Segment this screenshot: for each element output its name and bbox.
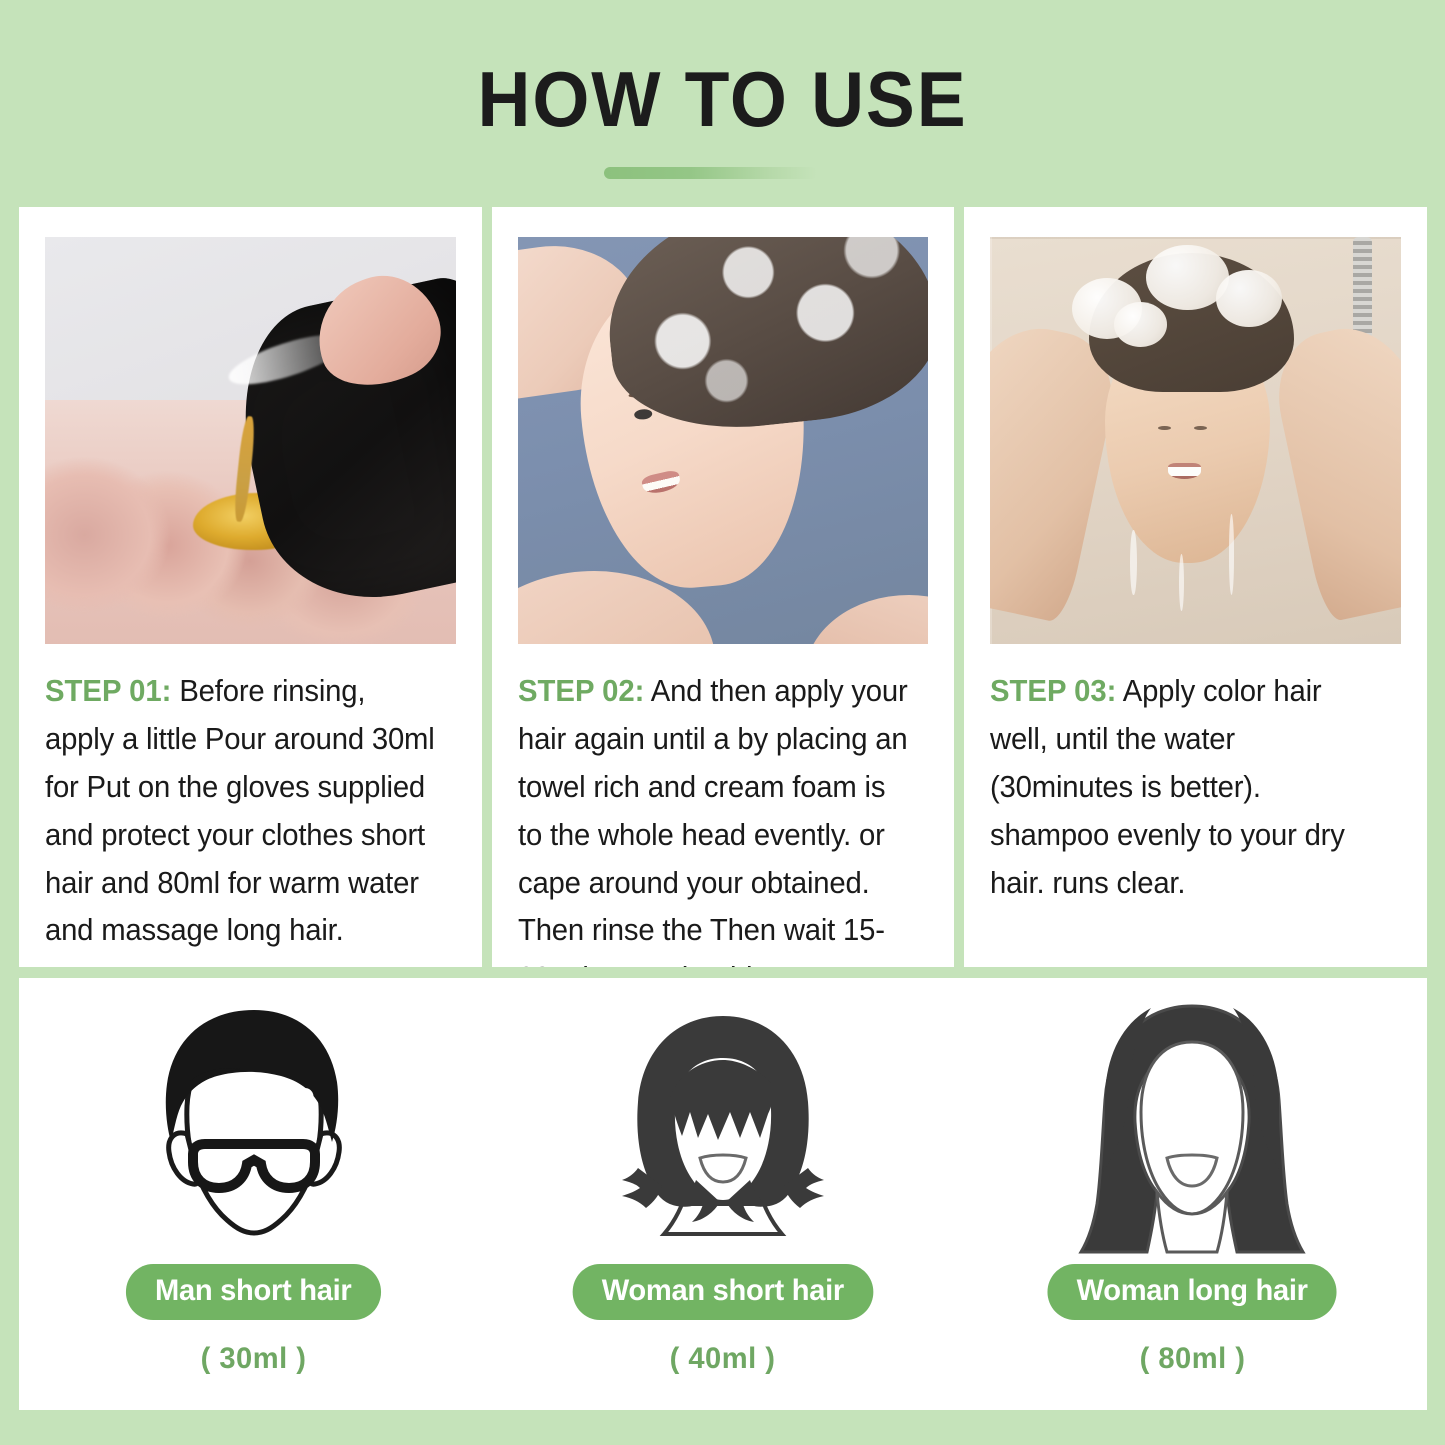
foam-blob <box>1216 270 1282 327</box>
hair-option-woman-short[interactable]: Woman short hair ( 40ml ) <box>488 978 957 1410</box>
steps-row: STEP 01: Before rinsing, apply a little … <box>19 207 1427 967</box>
woman-long-hair-icon <box>1047 1002 1337 1258</box>
dosage-panel: Man short hair ( 30ml ) Woman short hair <box>19 978 1427 1410</box>
step-02-photo <box>518 237 929 644</box>
step-03-label: STEP 03: <box>990 674 1116 708</box>
left-eye-shape <box>1158 426 1171 430</box>
page-title: HOW TO USE <box>43 60 1401 138</box>
step-card-03: STEP 03: Apply color hair well, until th… <box>964 207 1427 967</box>
step-01-body: Before rinsing, apply a little Pour arou… <box>45 674 435 947</box>
hair-option-label-man-short[interactable]: Man short hair <box>126 1264 381 1320</box>
woman-short-hair-icon <box>578 1002 868 1258</box>
man-short-hair-icon <box>109 1002 399 1258</box>
header: HOW TO USE <box>0 0 1445 200</box>
step-03-text: STEP 03: Apply color hair well, until th… <box>990 668 1384 907</box>
smiling-mouth-shape <box>641 468 682 495</box>
hair-option-volume-man-short: ( 30ml ) <box>201 1342 307 1376</box>
right-shoulder-shape <box>805 595 928 644</box>
foam-blob <box>1114 302 1167 347</box>
step-card-02: STEP 02: And then apply your hair again … <box>492 207 955 967</box>
step-02-text: STEP 02: And then apply your hair again … <box>518 668 912 967</box>
hair-option-man-short[interactable]: Man short hair ( 30ml ) <box>19 978 488 1410</box>
step-01-text: STEP 01: Before rinsing, apply a little … <box>45 668 439 955</box>
hair-option-label-woman-long[interactable]: Woman long hair <box>1048 1264 1337 1320</box>
step-01-photo <box>45 237 456 644</box>
step-03-photo <box>990 237 1401 644</box>
step-card-01: STEP 01: Before rinsing, apply a little … <box>19 207 482 967</box>
smiling-mouth-shape <box>1168 463 1201 478</box>
step-02-label: STEP 02: <box>518 674 644 708</box>
title-underline-rule <box>604 167 817 179</box>
step-02-body: And then apply your hair again until a b… <box>518 674 908 967</box>
hair-option-label-woman-short[interactable]: Woman short hair <box>573 1264 873 1320</box>
how-to-use-infographic: HOW TO USE STEP 01: Before rinsing, appl… <box>0 0 1445 1445</box>
water-streak <box>1130 530 1137 595</box>
hair-option-woman-long[interactable]: Woman long hair ( 80ml ) <box>958 978 1427 1410</box>
left-eye-shape <box>634 408 653 419</box>
hair-option-volume-woman-long: ( 80ml ) <box>1139 1342 1245 1376</box>
hair-option-volume-woman-short: ( 40ml ) <box>670 1342 776 1376</box>
step-01-label: STEP 01: <box>45 674 171 708</box>
right-eye-shape <box>1194 426 1207 430</box>
